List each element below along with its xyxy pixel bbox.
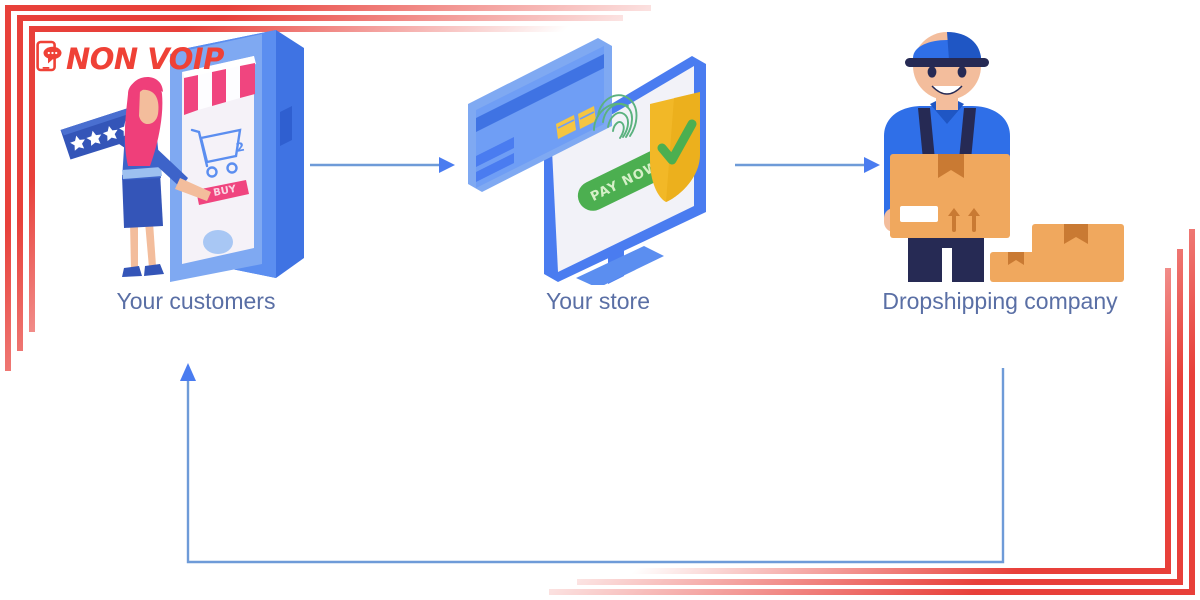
stage-dropshipping-company: Dropshipping company [850, 20, 1150, 320]
stacked-parcels [990, 224, 1124, 282]
held-parcel [890, 154, 1010, 238]
brand-logo: NON VOIP [36, 40, 224, 77]
secure-payment-illustration: PAY NOW [448, 20, 748, 285]
arrow-customers-to-store [310, 150, 455, 180]
stage-label-customers: Your customers [46, 288, 346, 315]
delivery-man-illustration [850, 20, 1150, 285]
dropshipping-flow-infographic: NON VOIP [0, 0, 1200, 600]
arrow-store-to-dropshipping [735, 150, 880, 180]
stage-label-store: Your store [448, 288, 748, 315]
stage-label-dropshipping: Dropshipping company [850, 288, 1150, 315]
stage-store: PAY NOW Your store [448, 20, 748, 320]
arrow-dropshipping-to-customers [170, 355, 1015, 575]
brand-name: NON VOIP [66, 42, 224, 76]
phone-message-icon [36, 40, 62, 77]
